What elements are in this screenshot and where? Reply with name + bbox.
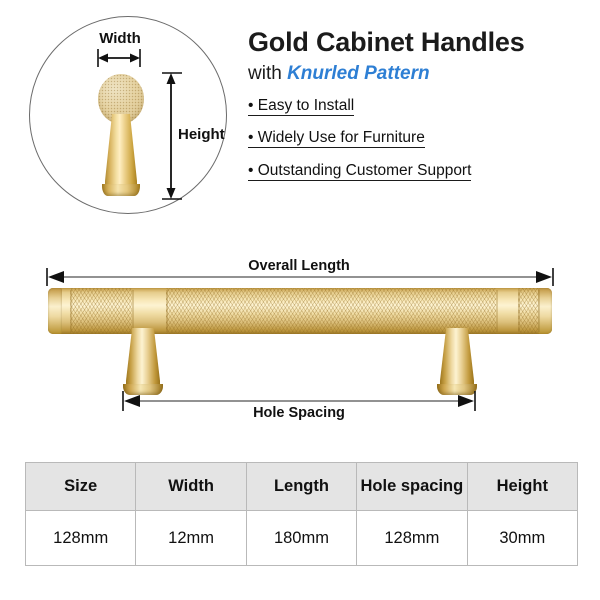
handle-end-cap-left xyxy=(48,288,62,334)
knob-illustration xyxy=(86,74,156,200)
hole-spacing-label: Hole Spacing xyxy=(127,405,471,421)
specification-table: Size Width Length Hole spacing Height 12… xyxy=(25,462,578,566)
list-item: • Widely Use for Furniture xyxy=(248,128,594,147)
table-header-row: Size Width Length Hole spacing Height xyxy=(26,463,578,511)
width-dimension-arrow-icon xyxy=(96,48,142,68)
knob-post-shape xyxy=(105,114,137,192)
subtitle-prefix: with xyxy=(248,63,287,84)
table-header-cell: Height xyxy=(467,463,577,511)
bar-seam xyxy=(538,290,540,332)
table-header-cell: Size xyxy=(26,463,136,511)
bar-seam xyxy=(518,290,520,332)
post-stem xyxy=(126,328,160,388)
knob-base-shape xyxy=(102,184,140,196)
bullet-text: • Easy to Install xyxy=(248,97,354,116)
subtitle-accent-text: Knurled Pattern xyxy=(287,63,430,84)
bar-seam xyxy=(132,290,134,332)
overall-length-arrow-icon xyxy=(44,266,556,288)
table-header-cell: Length xyxy=(246,463,356,511)
feature-bullet-list: • Easy to Install • Widely Use for Furni… xyxy=(248,96,594,180)
table-header-cell: Hole spacing xyxy=(357,463,467,511)
table-cell: 180mm xyxy=(246,511,356,566)
width-dimension-label: Width xyxy=(85,30,155,47)
bullet-text: • Widely Use for Furniture xyxy=(248,129,425,148)
headline-block: Gold Cabinet Handles with Knurled Patter… xyxy=(248,28,594,193)
bar-seam xyxy=(166,290,168,332)
table-cell: 128mm xyxy=(357,511,467,566)
bullet-text: • Outstanding Customer Support xyxy=(248,162,471,181)
list-item: • Easy to Install xyxy=(248,96,594,115)
handle-end-cap-right xyxy=(538,288,552,334)
cabinet-handle-illustration xyxy=(48,288,552,398)
knurled-section-left xyxy=(70,288,132,334)
subtitle: with Knurled Pattern xyxy=(248,63,594,86)
post-stem xyxy=(440,328,474,388)
height-dimension-label: Height xyxy=(178,126,225,143)
table-cell: 128mm xyxy=(26,511,136,566)
handle-post-left xyxy=(126,328,160,396)
bar-seam xyxy=(496,290,498,332)
table-cell: 12mm xyxy=(136,511,246,566)
table-header-cell: Width xyxy=(136,463,246,511)
table-row: 128mm 12mm 180mm 128mm 30mm xyxy=(26,511,578,566)
bar-seam xyxy=(70,290,72,332)
handle-post-right xyxy=(440,328,474,396)
page-title: Gold Cabinet Handles xyxy=(248,28,594,57)
list-item: • Outstanding Customer Support xyxy=(248,161,594,180)
table-cell: 30mm xyxy=(467,511,577,566)
